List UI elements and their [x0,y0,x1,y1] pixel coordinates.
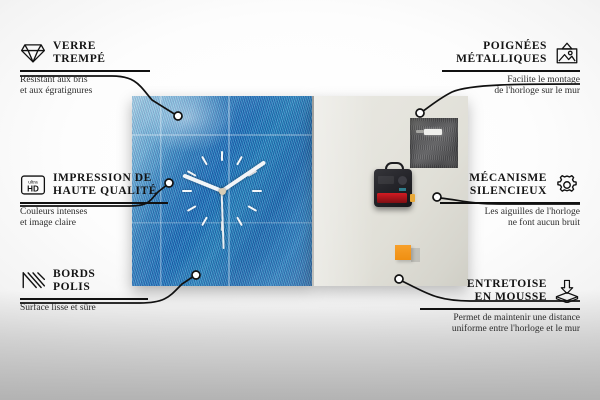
mechanism-label [378,176,394,184]
callout-title-line2: TREMPÉ [53,53,106,66]
callout-title-line1: VERRE [53,40,106,53]
callout-subtitle-line2: ne font aucun bruit [440,218,580,230]
mechanism-dial [398,176,407,185]
callout-entretoise-en-mousse: ENTRETOISE EN MOUSSE Permet de maintenir… [420,278,580,336]
callout-header: VERRE TREMPÉ [20,40,150,66]
callout-bords-polis: BORDS POLIS Surface lisse et sûre [20,268,148,314]
mechanism-body [374,169,412,207]
callout-title-line2: HAUTE QUALITÉ [53,185,157,198]
callout-header: ENTRETOISE EN MOUSSE [420,278,580,304]
callout-rule [420,308,580,310]
callout-title-line1: ENTRETOISE [467,278,547,291]
callout-header: ultra HD IMPRESSION DE HAUTE QUALITÉ [20,172,168,198]
callout-subtitle-line2: de l'horloge sur le mur [442,86,580,98]
callout-title-line2: SILENCIEUX [469,185,547,198]
callout-subtitle-line1: Couleurs intenses [20,207,168,219]
callout-subtitle-line1: Surface lisse et sûre [20,303,148,315]
callout-title-line1: IMPRESSION DE [53,172,157,185]
hanger-slot [424,129,442,135]
callout-subtitle-line1: Permet de maintenir une distance [420,313,580,325]
infographic-stage: VERRE TREMPÉ Résistant aux bris et aux é… [0,0,600,400]
callout-poignees-metalliques: POIGNÉES MÉTALLIQUES Facilite le montage… [442,40,580,98]
callout-subtitle-line2: et aux égratignures [20,86,150,98]
callout-verre-trempe: VERRE TREMPÉ Résistant aux bris et aux é… [20,40,150,98]
foam-spacer-icon [554,279,580,303]
product-image [132,96,468,286]
callout-rule [20,202,168,204]
callout-title-line1: MÉCANISME [469,172,547,185]
metal-hanger-plate [410,118,458,168]
callout-rule [440,202,580,204]
callout-subtitle-line1: Facilite le montage [442,75,580,87]
callout-impression-haute-qualite: ultra HD IMPRESSION DE HAUTE QUALITÉ Cou… [20,172,168,230]
mechanism-hook [385,162,404,174]
diamond-icon [20,41,46,65]
gear-icon [554,173,580,197]
picture-hanger-icon [554,41,580,65]
callout-title-line1: POIGNÉES [456,40,547,53]
mechanism-teal-mark [399,188,406,191]
panel-seam [312,96,314,286]
callout-subtitle-line1: Résistant aux bris [20,75,150,87]
callout-subtitle-line2: uniforme entre l'horloge et le mur [420,324,580,336]
callout-mecanisme-silencieux: MÉCANISME SILENCIEUX Les aiguilles de l'… [440,172,580,230]
ultra-hd-icon: ultra HD [20,173,46,197]
callout-title-line2: POLIS [53,281,95,294]
callout-header: MÉCANISME SILENCIEUX [440,172,580,198]
callout-title-line1: BORDS [53,268,95,281]
callout-header: BORDS POLIS [20,268,148,294]
foam-spacer-pad [395,245,411,260]
callout-subtitle-line2: et image claire [20,218,168,230]
callout-rule [20,298,148,300]
callout-header: POIGNÉES MÉTALLIQUES [442,40,580,66]
clock-mechanism [374,169,412,207]
callout-subtitle-line1: Les aiguilles de l'horloge [440,207,580,219]
battery-terminal [410,194,415,202]
battery [377,193,407,203]
foam-spacer-shadow [411,248,420,262]
callout-rule [20,70,150,72]
ultra-hd-icon-bottom: HD [27,185,39,194]
hanger-slot-secondary [416,130,424,133]
callout-title-line2: EN MOUSSE [467,291,547,304]
clock-hands-hub [219,188,226,195]
callout-title-line2: MÉTALLIQUES [456,53,547,66]
polished-edges-icon [20,269,46,293]
callout-rule [442,70,580,72]
